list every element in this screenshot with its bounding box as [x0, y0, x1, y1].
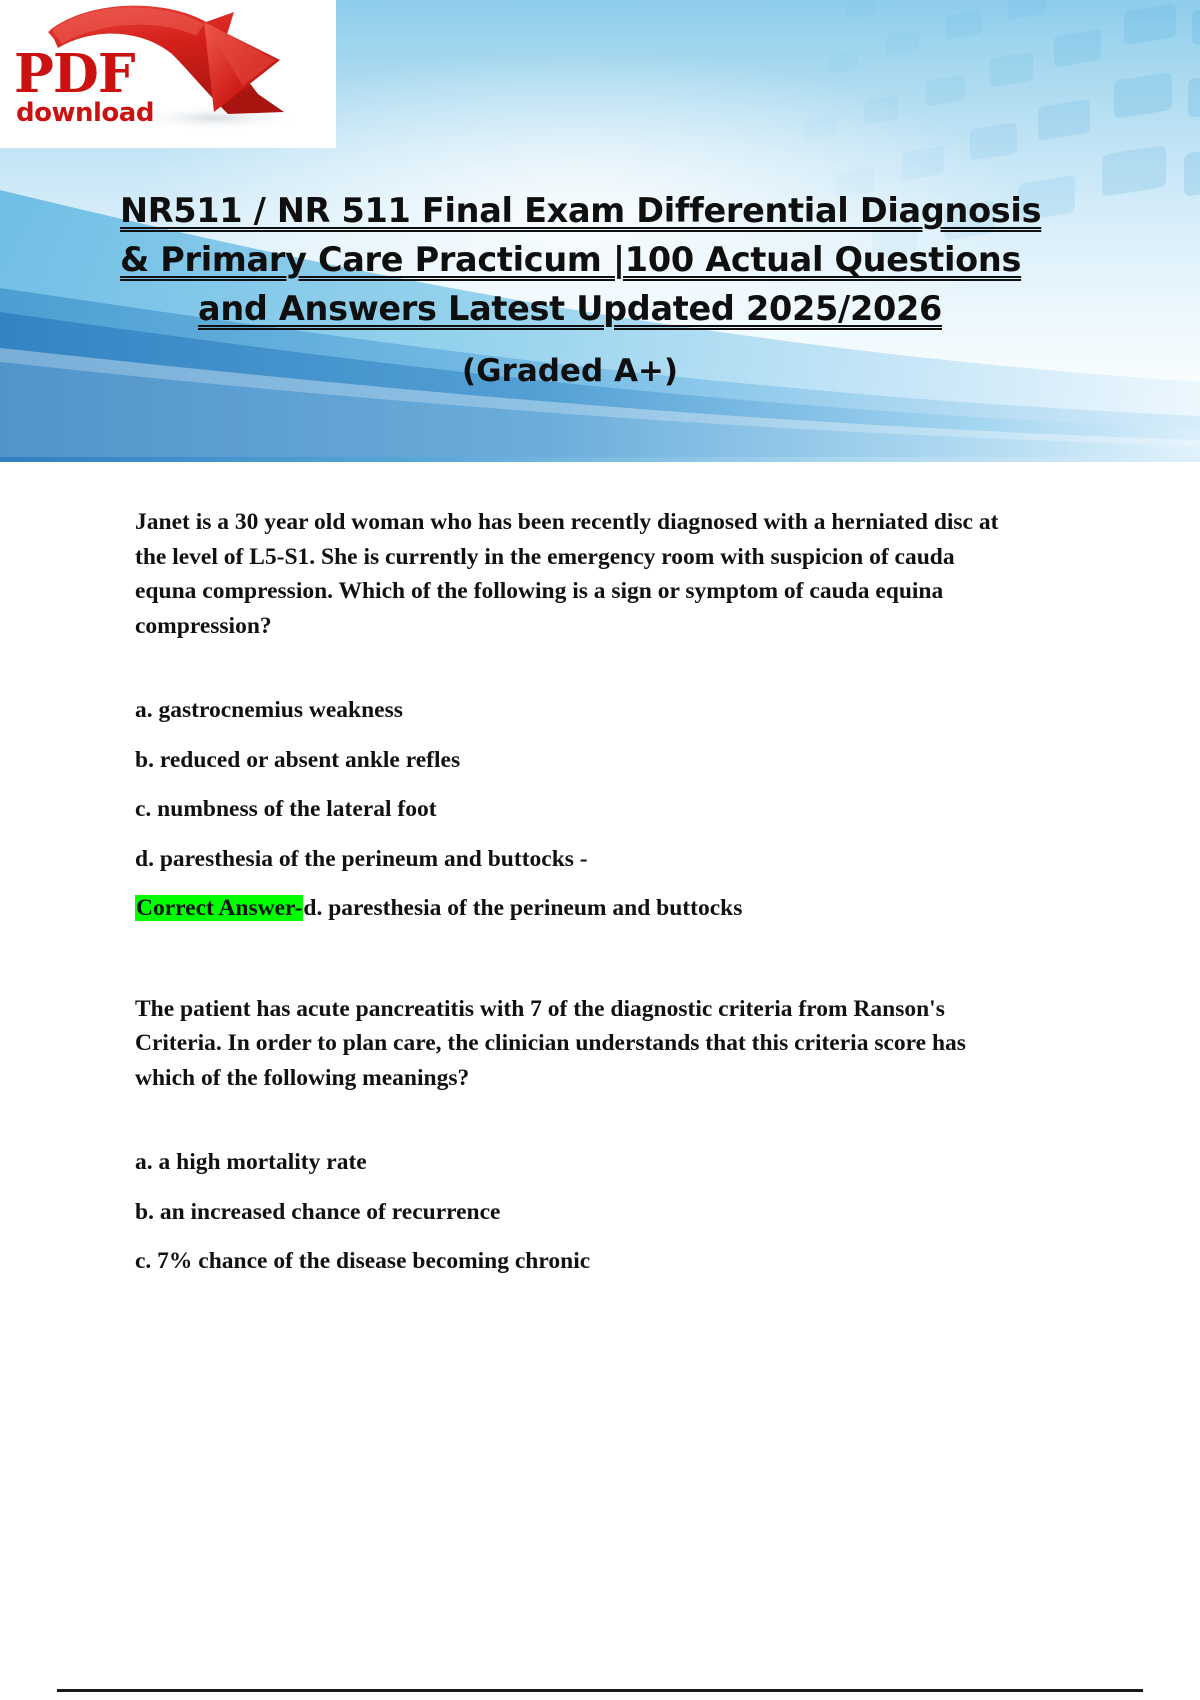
option-d[interactable]: d. paresthesia of the perineum and butto… [135, 842, 1035, 877]
question-stem: Janet is a 30 year old woman who has bee… [135, 505, 1015, 643]
option-b[interactable]: b. an increased chance of recurrence [135, 1195, 1035, 1230]
document-header-banner: PDF download NR511 / NR 511 Final Exam D… [0, 0, 1200, 462]
option-a[interactable]: a. a high mortality rate [135, 1145, 1035, 1180]
question-stem: The patient has acute pancreatitis with … [135, 992, 1015, 1096]
question-spacer [135, 926, 1035, 992]
page-title: NR511 / NR 511 Final Exam Differential D… [120, 186, 1020, 392]
correct-answer-highlight: Correct Answer- [135, 895, 303, 921]
pdf-logo-text: PDF [14, 48, 134, 101]
option-a[interactable]: a. gastrocnemius weakness [135, 693, 1035, 728]
correct-answer-line: Correct Answer-d. paresthesia of the per… [135, 891, 1035, 926]
pdf-download-logo: PDF download [0, 0, 336, 148]
header-bottom-rule [0, 457, 1200, 462]
option-list: a. a high mortality rate b. an increased… [135, 1145, 1035, 1279]
option-b[interactable]: b. reduced or absent ankle refles [135, 743, 1035, 778]
footer-divider [57, 1689, 1143, 1692]
question-block: The patient has acute pancreatitis with … [135, 992, 1035, 1279]
title-line-1: NR511 / NR 511 Final Exam Differential D… [120, 186, 1020, 235]
title-line-2: & Primary Care Practicum |100 Actual Que… [120, 235, 1020, 284]
option-c[interactable]: c. 7% chance of the disease becoming chr… [135, 1244, 1035, 1279]
option-c[interactable]: c. numbness of the lateral foot [135, 792, 1035, 827]
correct-answer-text: d. paresthesia of the perineum and butto… [303, 895, 742, 921]
title-line-3: and Answers Latest Updated 2025/2026 [120, 284, 1020, 333]
title-grade-line: (Graded A+) [120, 350, 1020, 392]
question-block: Janet is a 30 year old woman who has bee… [135, 505, 1035, 926]
title-grade-text: (Graded A+) [462, 350, 678, 392]
option-list: a. gastrocnemius weakness b. reduced or … [135, 693, 1035, 926]
download-logo-text: download [16, 100, 154, 126]
document-body: Janet is a 30 year old woman who has bee… [135, 505, 1035, 1279]
